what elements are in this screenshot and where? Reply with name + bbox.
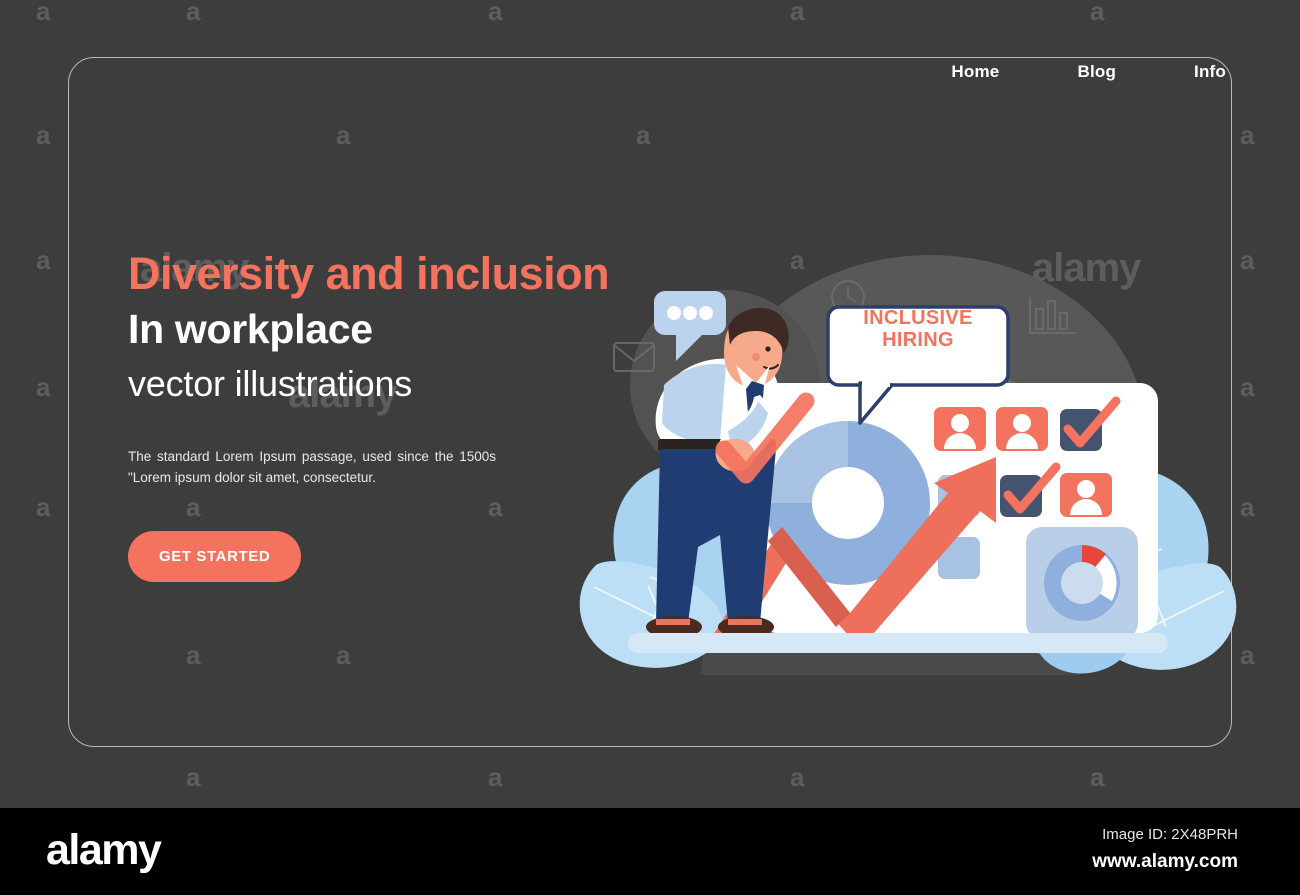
nav-item-blog[interactable]: Blog — [1077, 62, 1116, 82]
speech-bubble-line-1: INCLUSIVE — [828, 307, 1008, 329]
hero-paragraph: The standard Lorem Ipsum passage, used s… — [128, 447, 496, 489]
website-text: www.alamy.com — [1092, 851, 1238, 873]
watermark-a: a — [1240, 640, 1254, 671]
watermark-a: a — [36, 120, 50, 151]
watermark-a: a — [1240, 372, 1254, 403]
watermark-a: a — [36, 492, 50, 523]
watermark-a: a — [790, 762, 804, 793]
donut-widget-card[interactable] — [1026, 527, 1138, 639]
get-started-button[interactable]: GET STARTED — [128, 531, 301, 582]
watermark-a: a — [36, 0, 50, 27]
speech-bubble-line-2: HIRING — [828, 329, 1008, 351]
watermark-a: a — [186, 762, 200, 793]
watermark-a: a — [488, 762, 502, 793]
speech-bubble-text: INCLUSIVE HIRING — [828, 307, 1008, 352]
page-root: a a a a a a a a a a alamy a alamy a a al… — [0, 0, 1300, 895]
tile-person-card[interactable] — [996, 407, 1048, 451]
watermark-a: a — [1240, 492, 1254, 523]
nav-item-home[interactable]: Home — [951, 62, 999, 82]
hero-illustration — [560, 235, 1240, 675]
watermark-a: a — [36, 372, 50, 403]
watermark-a: a — [186, 0, 200, 27]
nav-item-info[interactable]: Info — [1194, 62, 1226, 82]
tile-person-card[interactable] — [934, 407, 986, 451]
image-id-text: Image ID: 2X48PRH — [1102, 826, 1238, 843]
alamy-logo: alamy — [46, 826, 160, 875]
watermark-a: a — [1240, 120, 1254, 151]
tile-person-card[interactable] — [1060, 473, 1112, 517]
watermark-a: a — [1090, 0, 1104, 27]
watermark-a: a — [1240, 245, 1254, 276]
main-navigation: Home Blog Info — [951, 62, 1226, 82]
watermark-a: a — [1090, 762, 1104, 793]
watermark-a: a — [488, 0, 502, 27]
watermark-a: a — [790, 0, 804, 27]
ground-bar — [628, 633, 1168, 653]
watermark-a: a — [36, 245, 50, 276]
